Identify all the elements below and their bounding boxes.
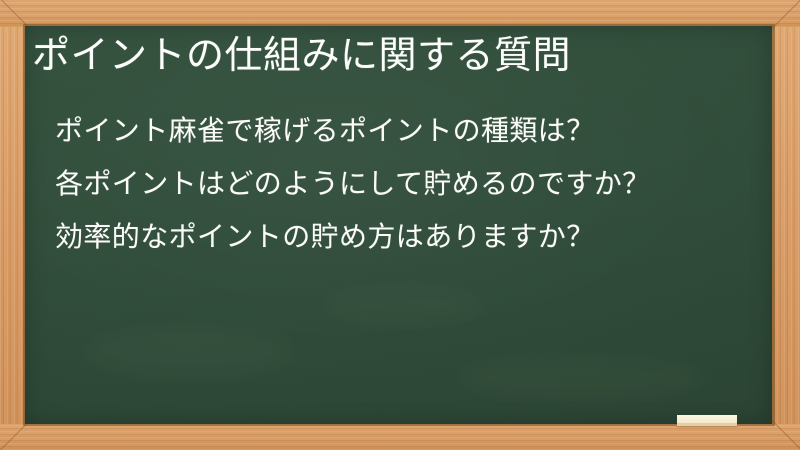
question-line: 各ポイントはどのようにして貯めるのですか？ bbox=[55, 157, 735, 210]
frame-rail-top bbox=[0, 0, 800, 27]
question-line: ポイント麻雀で稼げるポイントの種類は？ bbox=[55, 104, 735, 157]
question-line: 効率的なポイントの貯め方はありますか？ bbox=[55, 210, 735, 263]
chalk-eraser bbox=[677, 415, 737, 426]
chalk-smudge bbox=[455, 356, 705, 400]
frame-rail-bottom bbox=[0, 424, 800, 450]
slide-title: ポイントの仕組みに関する質問 bbox=[32, 33, 571, 78]
chalkboard-slide: ポイントの仕組みに関する質問 ポイント麻雀で稼げるポイントの種類は？ 各ポイント… bbox=[0, 0, 800, 450]
chalk-eraser-felt bbox=[677, 423, 737, 426]
chalk-smudge bbox=[325, 286, 485, 324]
chalk-smudge bbox=[85, 326, 295, 378]
question-list: ポイント麻雀で稼げるポイントの種類は？ 各ポイントはどのようにして貯めるのですか… bbox=[55, 104, 735, 263]
